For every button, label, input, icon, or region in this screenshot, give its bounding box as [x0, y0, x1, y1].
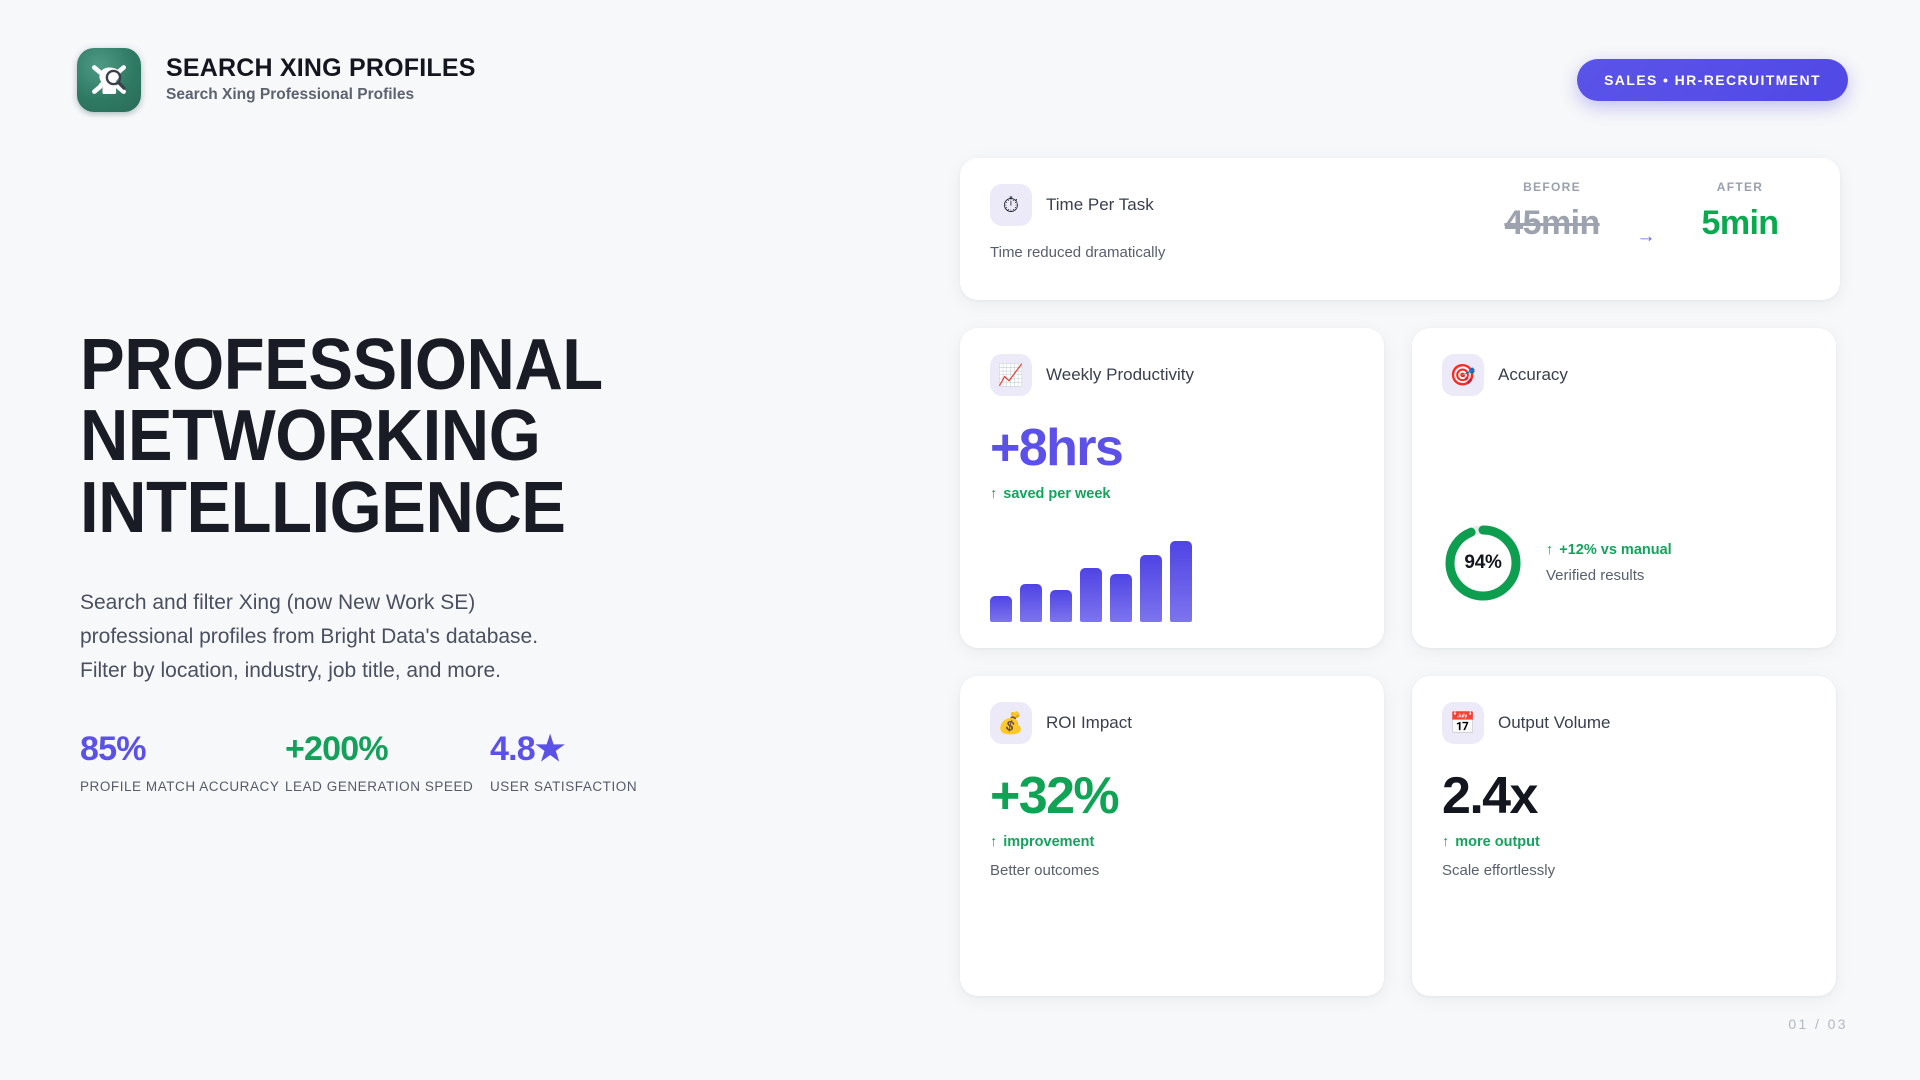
metric-delta-label: saved per week: [1003, 486, 1110, 502]
card-title: Output Volume: [1498, 713, 1610, 733]
stat-item: 85% PROFILE MATCH ACCURACY: [80, 732, 285, 794]
before-column: BEFORE 45min: [1482, 180, 1622, 242]
bar: [990, 596, 1012, 622]
bar: [1170, 541, 1192, 622]
hero-description: Search and filter Xing (now New Work SE)…: [80, 586, 580, 688]
page-title: PROFESSIONAL NETWORKING INTELLIGENCE: [80, 330, 675, 544]
metric-delta: ↑ +12% vs manual: [1546, 542, 1672, 558]
stat-label: USER SATISFACTION: [490, 779, 695, 794]
app-subtitle: Search Xing Professional Profiles: [166, 86, 476, 105]
stat-item: +200% LEAD GENERATION SPEED: [285, 732, 490, 794]
arrow-up-icon: ↑: [990, 486, 997, 502]
bar: [1050, 590, 1072, 622]
hero-stats: 85% PROFILE MATCH ACCURACY +200% LEAD GE…: [80, 732, 720, 794]
metrics-panel: ⏱ Time Per Task Time reduced dramaticall…: [960, 158, 1840, 996]
after-caption: AFTER: [1670, 180, 1810, 194]
logo-glow: [72, 43, 146, 117]
metric-note: Better outcomes: [990, 862, 1354, 879]
money-bag-icon: 💰: [990, 702, 1032, 744]
brand: SEARCH XING PROFILES Search Xing Profess…: [72, 43, 476, 117]
app-title: SEARCH XING PROFILES: [166, 55, 476, 83]
bar: [1140, 555, 1162, 622]
card-title: Weekly Productivity: [1046, 365, 1194, 385]
donut-center-label: 94%: [1442, 522, 1524, 604]
metric-delta-label: more output: [1455, 834, 1540, 850]
after-column: AFTER 5min: [1670, 180, 1810, 242]
before-value: 45min: [1482, 206, 1622, 242]
bar: [1110, 574, 1132, 622]
calendar-icon: 📅: [1442, 702, 1484, 744]
stopwatch-icon: ⏱: [990, 184, 1032, 226]
before-caption: BEFORE: [1482, 180, 1622, 194]
bar: [1020, 584, 1042, 622]
metric-note: Verified results: [1546, 567, 1672, 584]
headline-line-3: INTELLIGENCE: [80, 473, 675, 544]
bar: [1080, 568, 1102, 622]
arrow-up-icon: ↑: [1442, 834, 1449, 850]
bar-chart: [990, 536, 1192, 622]
stat-label: LEAD GENERATION SPEED: [285, 779, 490, 794]
roi-impact-card: 💰 ROI Impact +32% ↑ improvement Better o…: [960, 676, 1384, 996]
output-volume-card: 📅 Output Volume 2.4x ↑ more output Scale…: [1412, 676, 1836, 996]
stat-label: PROFILE MATCH ACCURACY: [80, 779, 285, 794]
arrow-right-icon: →: [1622, 226, 1670, 248]
metric-value: +32%: [990, 770, 1354, 822]
card-header: 📈 Weekly Productivity: [990, 354, 1354, 396]
stat-value: +200%: [285, 732, 490, 768]
headline-line-2: NETWORKING: [80, 401, 675, 472]
stat-value: 4.8★: [490, 732, 695, 768]
brand-text: SEARCH XING PROFILES Search Xing Profess…: [166, 55, 476, 104]
metric-delta: ↑ more output: [1442, 834, 1806, 850]
metric-delta: ↑ saved per week: [990, 486, 1354, 502]
metric-delta-label: +12% vs manual: [1559, 542, 1671, 558]
chart-increasing-icon: 📈: [990, 354, 1032, 396]
slide-pager: 01 / 03: [1788, 1016, 1848, 1032]
metric-value: 2.4x: [1442, 770, 1806, 822]
card-header: 📅 Output Volume: [1442, 702, 1806, 744]
metric-note: Scale effortlessly: [1442, 862, 1806, 879]
arrow-up-icon: ↑: [1546, 542, 1553, 558]
metric-delta-label: improvement: [1003, 834, 1094, 850]
card-header: 🎯 Accuracy: [1442, 354, 1806, 396]
accuracy-text: ↑ +12% vs manual Verified results: [1546, 542, 1672, 584]
headline-line-1: PROFESSIONAL: [80, 330, 675, 401]
page-header: SEARCH XING PROFILES Search Xing Profess…: [72, 40, 1848, 120]
category-badge[interactable]: SALES • HR-RECRUITMENT: [1577, 59, 1848, 101]
stat-value: 85%: [80, 732, 285, 768]
accuracy-donut-row: 94% ↑ +12% vs manual Verified results: [1442, 522, 1672, 604]
arrow-up-icon: ↑: [990, 834, 997, 850]
card-header: 💰 ROI Impact: [990, 702, 1354, 744]
head-magnifier-icon: [87, 58, 131, 102]
after-value: 5min: [1670, 206, 1810, 242]
card-title: ROI Impact: [1046, 713, 1132, 733]
metric-value: +8hrs: [990, 422, 1354, 474]
card-title: Time Per Task: [1046, 195, 1154, 215]
weekly-productivity-card: 📈 Weekly Productivity +8hrs ↑ saved per …: [960, 328, 1384, 648]
time-per-task-card: ⏱ Time Per Task Time reduced dramaticall…: [960, 158, 1840, 300]
metric-card-grid: 📈 Weekly Productivity +8hrs ↑ saved per …: [960, 328, 1840, 996]
accuracy-card: 🎯 Accuracy 94% ↑ +12% vs manual Veri: [1412, 328, 1836, 648]
before-after-comparison: BEFORE 45min → AFTER 5min: [1482, 180, 1810, 248]
target-icon: 🎯: [1442, 354, 1484, 396]
donut-chart: 94%: [1442, 522, 1524, 604]
app-logo: [77, 48, 141, 112]
stat-item: 4.8★ USER SATISFACTION: [490, 732, 695, 794]
hero-section: PROFESSIONAL NETWORKING INTELLIGENCE Sea…: [80, 330, 720, 794]
metric-delta: ↑ improvement: [990, 834, 1354, 850]
card-title: Accuracy: [1498, 365, 1568, 385]
